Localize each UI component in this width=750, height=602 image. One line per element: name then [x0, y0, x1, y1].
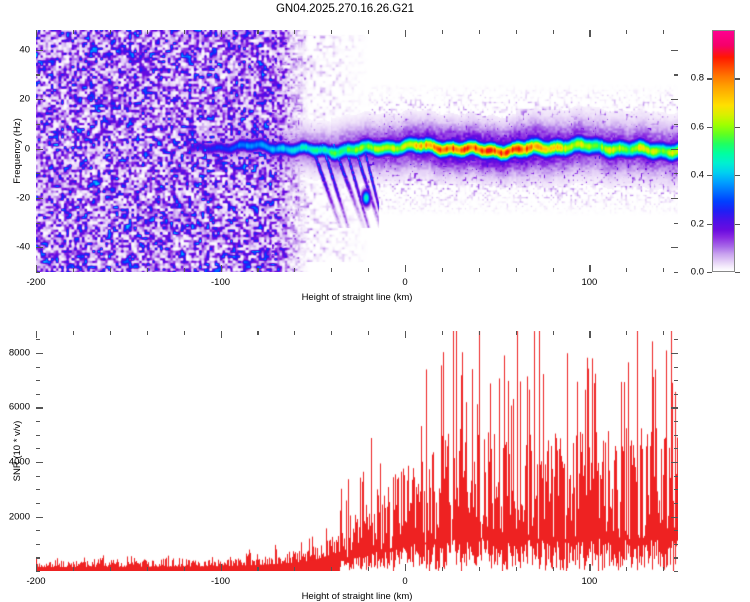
tick-mark	[674, 435, 678, 436]
tick-mark	[405, 30, 406, 37]
tick-mark	[671, 198, 678, 199]
tick-mark	[589, 30, 590, 37]
tick-mark	[73, 30, 74, 34]
tick-mark	[707, 175, 712, 176]
tick-mark	[36, 99, 43, 100]
tick-mark	[221, 564, 222, 571]
tick-mark	[36, 476, 40, 477]
colorbar	[712, 30, 735, 272]
tick-mark	[36, 50, 43, 51]
snr-xtick-label: -100	[211, 576, 230, 587]
tick-mark	[674, 571, 678, 572]
tick-mark	[674, 380, 678, 381]
tick-mark	[674, 557, 678, 558]
tick-mark	[442, 567, 443, 571]
colorbar-tick-label: 0.6	[672, 121, 704, 132]
tick-mark	[442, 331, 443, 335]
tick-mark	[36, 74, 40, 75]
tick-mark	[663, 567, 664, 571]
snr-xtick-label: -200	[26, 576, 45, 587]
tick-mark	[36, 544, 40, 545]
colorbar-tick-label: 0.0	[672, 267, 704, 278]
colorbar-tick-label: 0.2	[672, 218, 704, 229]
tick-mark	[671, 462, 678, 463]
tick-mark	[36, 272, 40, 273]
spectrogram-xtick-label: -100	[211, 277, 230, 288]
tick-mark	[674, 367, 678, 368]
tick-mark	[331, 567, 332, 571]
tick-mark	[110, 567, 111, 571]
tick-mark	[331, 30, 332, 34]
tick-mark	[589, 331, 590, 338]
tick-mark	[479, 331, 480, 335]
tick-mark	[516, 30, 517, 34]
tick-mark	[110, 268, 111, 272]
tick-mark	[73, 331, 74, 335]
tick-mark	[674, 503, 678, 504]
snr-ytick-label: 6000	[0, 402, 30, 413]
spectrogram-image	[36, 30, 678, 272]
tick-mark	[553, 268, 554, 272]
tick-mark	[73, 268, 74, 272]
tick-mark	[368, 30, 369, 34]
tick-mark	[516, 567, 517, 571]
spectrogram-xtick-label: -200	[26, 277, 45, 288]
tick-mark	[36, 198, 43, 199]
tick-mark	[671, 247, 678, 248]
tick-mark	[671, 149, 678, 150]
tick-mark	[294, 268, 295, 272]
tick-mark	[36, 380, 40, 381]
tick-mark	[674, 489, 678, 490]
spectrogram-ytick-label: -40	[0, 242, 30, 253]
spectrogram-y-axis-title: Frequency (Hz)	[12, 118, 23, 183]
tick-mark	[36, 448, 40, 449]
tick-mark	[674, 448, 678, 449]
tick-mark	[36, 265, 37, 272]
tick-mark	[36, 462, 43, 463]
tick-mark	[442, 268, 443, 272]
tick-mark	[516, 268, 517, 272]
tick-mark	[626, 567, 627, 571]
spectrogram-ytick-label: 40	[0, 44, 30, 55]
tick-mark	[36, 124, 40, 125]
tick-mark	[674, 476, 678, 477]
snr-ytick-label: 2000	[0, 511, 30, 522]
tick-mark	[671, 353, 678, 354]
snr-xtick-label: 100	[581, 576, 597, 587]
tick-mark	[671, 99, 678, 100]
colorbar-tick-label: 0.4	[672, 170, 704, 181]
tick-mark	[257, 331, 258, 335]
tick-mark	[36, 149, 43, 150]
tick-mark	[257, 30, 258, 34]
tick-mark	[674, 339, 678, 340]
tick-mark	[184, 30, 185, 34]
tick-mark	[36, 173, 40, 174]
tick-mark	[110, 331, 111, 335]
tick-mark	[36, 517, 43, 518]
tick-mark	[707, 224, 712, 225]
colorbar-tick-label: 0.8	[672, 73, 704, 84]
tick-mark	[479, 268, 480, 272]
tick-mark	[735, 78, 740, 79]
tick-mark	[257, 567, 258, 571]
tick-mark	[73, 567, 74, 571]
figure-root: GN04.2025.270.16.26.G21 -200-1000100-40-…	[0, 0, 750, 600]
tick-mark	[36, 353, 43, 354]
tick-mark	[479, 30, 480, 34]
tick-mark	[405, 564, 406, 571]
spectrogram-ytick-label: -20	[0, 192, 30, 203]
tick-mark	[184, 567, 185, 571]
snr-ytick-label: 8000	[0, 347, 30, 358]
tick-mark	[479, 567, 480, 571]
tick-mark	[36, 435, 40, 436]
tick-mark	[147, 30, 148, 34]
tick-mark	[589, 265, 590, 272]
spectrogram-x-axis-title: Height of straight line (km)	[302, 292, 413, 303]
tick-mark	[294, 331, 295, 335]
tick-mark	[184, 331, 185, 335]
tick-mark	[294, 30, 295, 34]
tick-mark	[674, 394, 678, 395]
tick-mark	[36, 421, 40, 422]
tick-mark	[294, 567, 295, 571]
tick-mark	[626, 331, 627, 335]
tick-mark	[36, 557, 40, 558]
tick-mark	[671, 517, 678, 518]
tick-mark	[368, 567, 369, 571]
tick-mark	[707, 78, 712, 79]
tick-mark	[331, 268, 332, 272]
tick-mark	[36, 530, 40, 531]
tick-mark	[671, 407, 678, 408]
snr-plot-area	[36, 331, 678, 571]
tick-mark	[36, 503, 40, 504]
tick-mark	[221, 331, 222, 338]
tick-mark	[405, 331, 406, 338]
tick-mark	[36, 331, 37, 338]
tick-mark	[331, 331, 332, 335]
tick-mark	[147, 567, 148, 571]
tick-mark	[36, 489, 40, 490]
tick-mark	[674, 530, 678, 531]
spectrogram-canvas	[36, 30, 678, 272]
tick-mark	[663, 268, 664, 272]
snr-canvas	[36, 331, 678, 571]
tick-mark	[368, 268, 369, 272]
tick-mark	[110, 30, 111, 34]
snr-xtick-label: 0	[402, 576, 407, 587]
tick-mark	[674, 421, 678, 422]
tick-mark	[36, 247, 43, 248]
tick-mark	[405, 265, 406, 272]
snr-x-axis-title: Height of straight line (km)	[302, 591, 413, 602]
tick-mark	[671, 50, 678, 51]
tick-mark	[589, 564, 590, 571]
tick-mark	[147, 331, 148, 335]
tick-mark	[36, 223, 40, 224]
tick-mark	[674, 544, 678, 545]
tick-mark	[626, 268, 627, 272]
tick-mark	[442, 30, 443, 34]
tick-mark	[707, 127, 712, 128]
tick-mark	[257, 268, 258, 272]
snr-y-axis-title: SNR (10 * v/v)	[12, 421, 23, 482]
page-title: GN04.2025.270.16.26.G21	[0, 3, 690, 15]
tick-mark	[553, 331, 554, 335]
tick-mark	[707, 272, 712, 273]
tick-mark	[184, 268, 185, 272]
tick-mark	[516, 331, 517, 335]
tick-mark	[626, 30, 627, 34]
tick-mark	[147, 268, 148, 272]
spectrogram-xtick-label: 0	[402, 277, 407, 288]
tick-mark	[36, 394, 40, 395]
tick-mark	[36, 367, 40, 368]
tick-mark	[221, 30, 222, 37]
tick-mark	[735, 224, 740, 225]
tick-mark	[36, 564, 37, 571]
tick-mark	[735, 175, 740, 176]
tick-mark	[36, 30, 37, 37]
tick-mark	[368, 331, 369, 335]
tick-mark	[735, 127, 740, 128]
tick-mark	[663, 30, 664, 34]
tick-mark	[735, 272, 740, 273]
tick-mark	[36, 339, 40, 340]
spectrogram-ytick-label: 20	[0, 94, 30, 105]
tick-mark	[36, 407, 43, 408]
tick-mark	[553, 30, 554, 34]
tick-mark	[221, 265, 222, 272]
tick-mark	[36, 571, 40, 572]
tick-mark	[553, 567, 554, 571]
tick-mark	[663, 331, 664, 335]
spectrogram-xtick-label: 100	[581, 277, 597, 288]
